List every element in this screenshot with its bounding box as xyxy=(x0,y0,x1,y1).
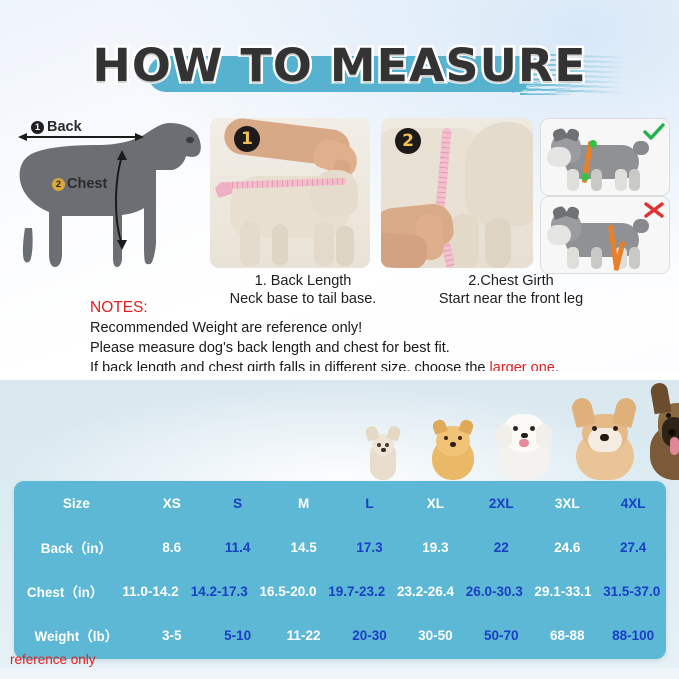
badge-two-icon: 2 xyxy=(52,178,65,191)
chest-measure-label: 2 Chest xyxy=(52,176,107,192)
table-cell: L xyxy=(337,496,403,511)
dog-photo-bichon xyxy=(490,408,558,480)
caption-back-title: 1. Back Length xyxy=(200,272,406,290)
photo-badge-two: 2 xyxy=(395,128,421,154)
table-cell: 23.2-26.4 xyxy=(391,584,460,599)
photo-badge-one: 1 xyxy=(234,126,260,152)
table-cell: 31.5-37.0 xyxy=(597,584,666,599)
table-cell: 16.5-20.0 xyxy=(254,584,323,599)
table-cell: 14.5 xyxy=(271,540,337,555)
photo-wrong-example xyxy=(540,196,670,274)
size-table: Size XS S M L XL 2XL 3XL 4XL Back（in） 8.… xyxy=(14,481,666,659)
table-row-size: Size XS S M L XL 2XL 3XL 4XL xyxy=(14,481,666,525)
page-title: HOW TO MEASURE xyxy=(0,36,679,96)
table-cell: 3-5 xyxy=(139,628,205,643)
section-divider xyxy=(0,371,679,380)
table-row-chest: Chest（in） 11.0-14.2 14.2-17.3 16.5-20.0 … xyxy=(14,569,666,613)
back-measure-label: 1 Back xyxy=(31,119,82,135)
notes-heading: NOTES: xyxy=(90,298,650,318)
table-cell: 11-22 xyxy=(271,628,337,643)
dog-size-photo-strip xyxy=(352,383,679,480)
notes-line-2: Please measure dog's back length and che… xyxy=(90,338,650,358)
cross-mark-icon xyxy=(643,201,665,219)
table-cell: 29.1-33.1 xyxy=(529,584,598,599)
notes-line-1: Recommended Weight are reference only! xyxy=(90,318,650,338)
reference-only-note: reference only xyxy=(10,652,96,667)
table-cell: 50-70 xyxy=(468,628,534,643)
title-block: HOW TO MEASURE xyxy=(0,36,679,102)
caption-chest-title: 2.Chest Girth xyxy=(408,272,614,290)
table-cell: 30-50 xyxy=(402,628,468,643)
dog-photo-german-shepherd xyxy=(646,383,679,480)
table-row-label: Chest（in） xyxy=(14,581,116,601)
table-cell: 11.4 xyxy=(205,540,271,555)
table-cell: 68-88 xyxy=(534,628,600,643)
table-cell: 20-30 xyxy=(337,628,403,643)
table-cell: 8.6 xyxy=(139,540,205,555)
table-cell: M xyxy=(271,496,337,511)
photo-correct-example xyxy=(540,118,670,196)
table-cell: 3XL xyxy=(534,496,600,511)
table-cell: 11.0-14.2 xyxy=(116,584,185,599)
table-cell: 5-10 xyxy=(205,628,271,643)
check-mark-icon xyxy=(643,123,665,141)
table-cell: 19.3 xyxy=(402,540,468,555)
table-cell: XS xyxy=(139,496,205,511)
photo-chest-girth: 2 xyxy=(381,118,533,268)
dog-photo-pomeranian xyxy=(424,418,482,480)
dog-photo-chihuahua xyxy=(360,426,408,480)
chest-measure-arrow xyxy=(108,148,132,252)
table-cell: 4XL xyxy=(600,496,666,511)
table-row-weight: Weight（lb） 3-5 5-10 11-22 20-30 30-50 50… xyxy=(14,613,666,657)
chest-label-text: Chest xyxy=(67,176,107,192)
table-cell: 2XL xyxy=(468,496,534,511)
table-row-label: Weight（lb） xyxy=(14,625,139,645)
dog-photo-corgi xyxy=(566,398,642,480)
table-cell: 22 xyxy=(468,540,534,555)
photo-back-length: 1 xyxy=(210,118,370,268)
table-cell: 26.0-30.3 xyxy=(460,584,529,599)
back-label-text: Back xyxy=(47,119,82,135)
table-cell: 14.2-17.3 xyxy=(185,584,254,599)
table-row-back: Back（in） 8.6 11.4 14.5 17.3 19.3 22 24.6… xyxy=(14,525,666,569)
table-cell: 24.6 xyxy=(534,540,600,555)
size-chart-infographic: HOW TO MEASURE 1 Back 2 Chest xyxy=(0,0,679,679)
table-cell: 88-100 xyxy=(600,628,666,643)
bottom-strip xyxy=(0,668,679,679)
table-cell: XL xyxy=(402,496,468,511)
table-row-label: Back（in） xyxy=(14,537,139,557)
notes-block: NOTES: Recommended Weight are reference … xyxy=(90,298,650,378)
table-cell: 17.3 xyxy=(337,540,403,555)
table-cell: 19.7-23.2 xyxy=(322,584,391,599)
badge-one-icon: 1 xyxy=(31,121,44,134)
table-cell: S xyxy=(205,496,271,511)
table-row-label: Size xyxy=(14,496,139,511)
table-cell: 27.4 xyxy=(600,540,666,555)
